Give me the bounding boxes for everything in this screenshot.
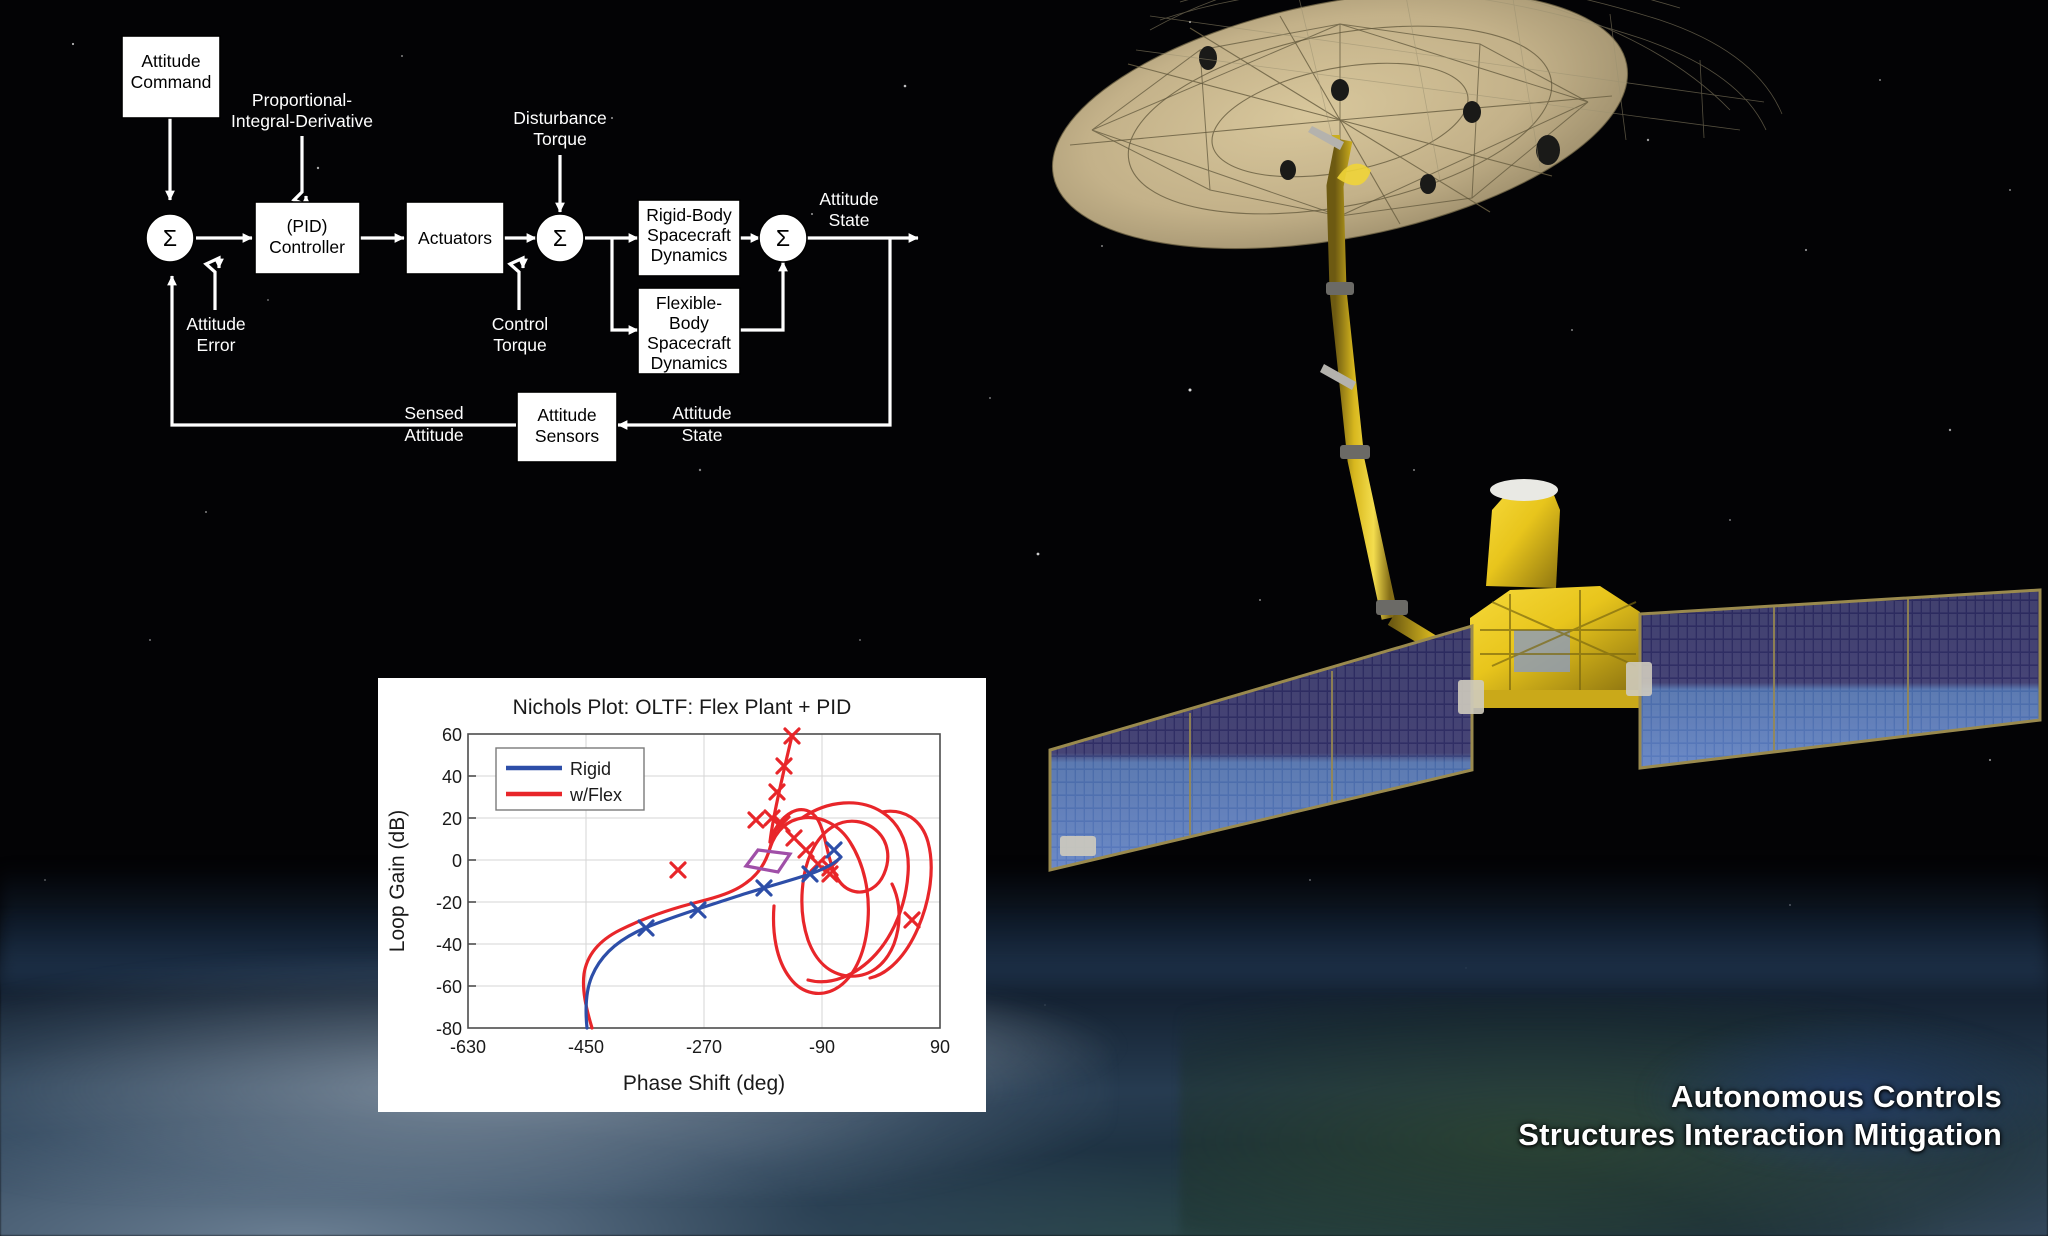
sum-junction-1-symbol: Σ [163, 225, 177, 251]
svg-text:-80: -80 [436, 1019, 462, 1039]
svg-text:0: 0 [452, 851, 462, 871]
nichols-plot-panel: Nichols Plot: OLTF: Flex Plant + PID 604… [378, 678, 986, 1112]
svg-text:-20: -20 [436, 893, 462, 913]
pid-l1: (PID) [287, 216, 328, 236]
sensors-l1: Attitude [537, 405, 596, 425]
flex-l3: Spacecraft [647, 333, 731, 353]
arrow-flex-to-sum3 [739, 262, 783, 330]
rigid-l2: Spacecraft [647, 225, 731, 245]
leader-control-torque [510, 258, 523, 310]
attitude-state-out-l2: State [829, 210, 870, 230]
control-torque-l1: Control [492, 314, 548, 334]
attitude-error-l1: Attitude [186, 314, 245, 334]
attitude-state-out-l1: Attitude [819, 189, 878, 209]
spacecraft-illustration [1040, 0, 2048, 940]
attitude-state-fb-l2: State [682, 425, 723, 445]
attitude-error-l2: Error [197, 335, 236, 355]
caption-line-2: Structures Interaction Mitigation [1518, 1116, 2002, 1154]
disturbance-l2: Torque [533, 129, 587, 149]
rigid-l1: Rigid-Body [646, 205, 732, 225]
chart-legend: Rigid w/Flex [496, 748, 644, 810]
svg-text:90: 90 [930, 1037, 950, 1057]
svg-text:20: 20 [442, 809, 462, 829]
sum-junction-3-symbol: Σ [776, 225, 790, 251]
svg-text:60: 60 [442, 725, 462, 745]
y-axis-label: Loop Gain (dB) [386, 810, 409, 952]
sensors-l2: Sensors [535, 426, 599, 446]
pid-expand-l2: Integral-Derivative [231, 111, 373, 131]
leader-attitude-error [206, 258, 219, 310]
control-torque-l2: Torque [493, 335, 547, 355]
solar-array-left [1050, 626, 1472, 870]
nichols-plot-svg: Nichols Plot: OLTF: Flex Plant + PID 604… [378, 678, 986, 1112]
svg-text:-60: -60 [436, 977, 462, 997]
svg-text:-450: -450 [568, 1037, 604, 1057]
caption-line-1: Autonomous Controls [1518, 1078, 2002, 1116]
svg-text:40: 40 [442, 767, 462, 787]
flex-l2: Body [669, 313, 709, 333]
rigid-l3: Dynamics [651, 245, 728, 265]
attitude-command-l2: Command [131, 72, 212, 92]
svg-text:-90: -90 [809, 1037, 835, 1057]
svg-text:-40: -40 [436, 935, 462, 955]
sensed-attitude-l2: Attitude [404, 425, 463, 445]
mesh-reflector [1040, 0, 1782, 292]
chart-title: Nichols Plot: OLTF: Flex Plant + PID [513, 696, 852, 719]
pid-l2: Controller [269, 237, 345, 257]
legend-label-wflex: w/Flex [569, 785, 622, 805]
flex-l4: Dynamics [651, 353, 728, 373]
caption-block: Autonomous Controls Structures Interacti… [1518, 1078, 2002, 1154]
flex-l1: Flexible- [656, 293, 722, 313]
actuators-label: Actuators [418, 228, 492, 248]
satellite-bus [1470, 479, 1640, 708]
disturbance-l1: Disturbance [513, 108, 606, 128]
sensed-attitude-l1: Sensed [404, 403, 463, 423]
pid-expand-l1: Proportional- [252, 90, 352, 110]
arrow-sum2-to-flex [612, 238, 638, 330]
screenshot-root: Attitude Command (PID) Controller Actuat… [0, 0, 2048, 1236]
attitude-state-fb-l1: Attitude [672, 403, 731, 423]
x-axis-label: Phase Shift (deg) [623, 1072, 785, 1095]
legend-label-rigid: Rigid [570, 759, 611, 779]
control-block-diagram: Attitude Command (PID) Controller Actuat… [0, 0, 1060, 620]
attitude-command-l1: Attitude [141, 51, 200, 71]
diagram-boxes [122, 36, 740, 462]
leader-pid [294, 136, 306, 205]
solar-array-right [1640, 590, 2040, 768]
sum-junction-2-symbol: Σ [553, 225, 567, 251]
svg-text:-630: -630 [450, 1037, 486, 1057]
svg-text:-270: -270 [686, 1037, 722, 1057]
